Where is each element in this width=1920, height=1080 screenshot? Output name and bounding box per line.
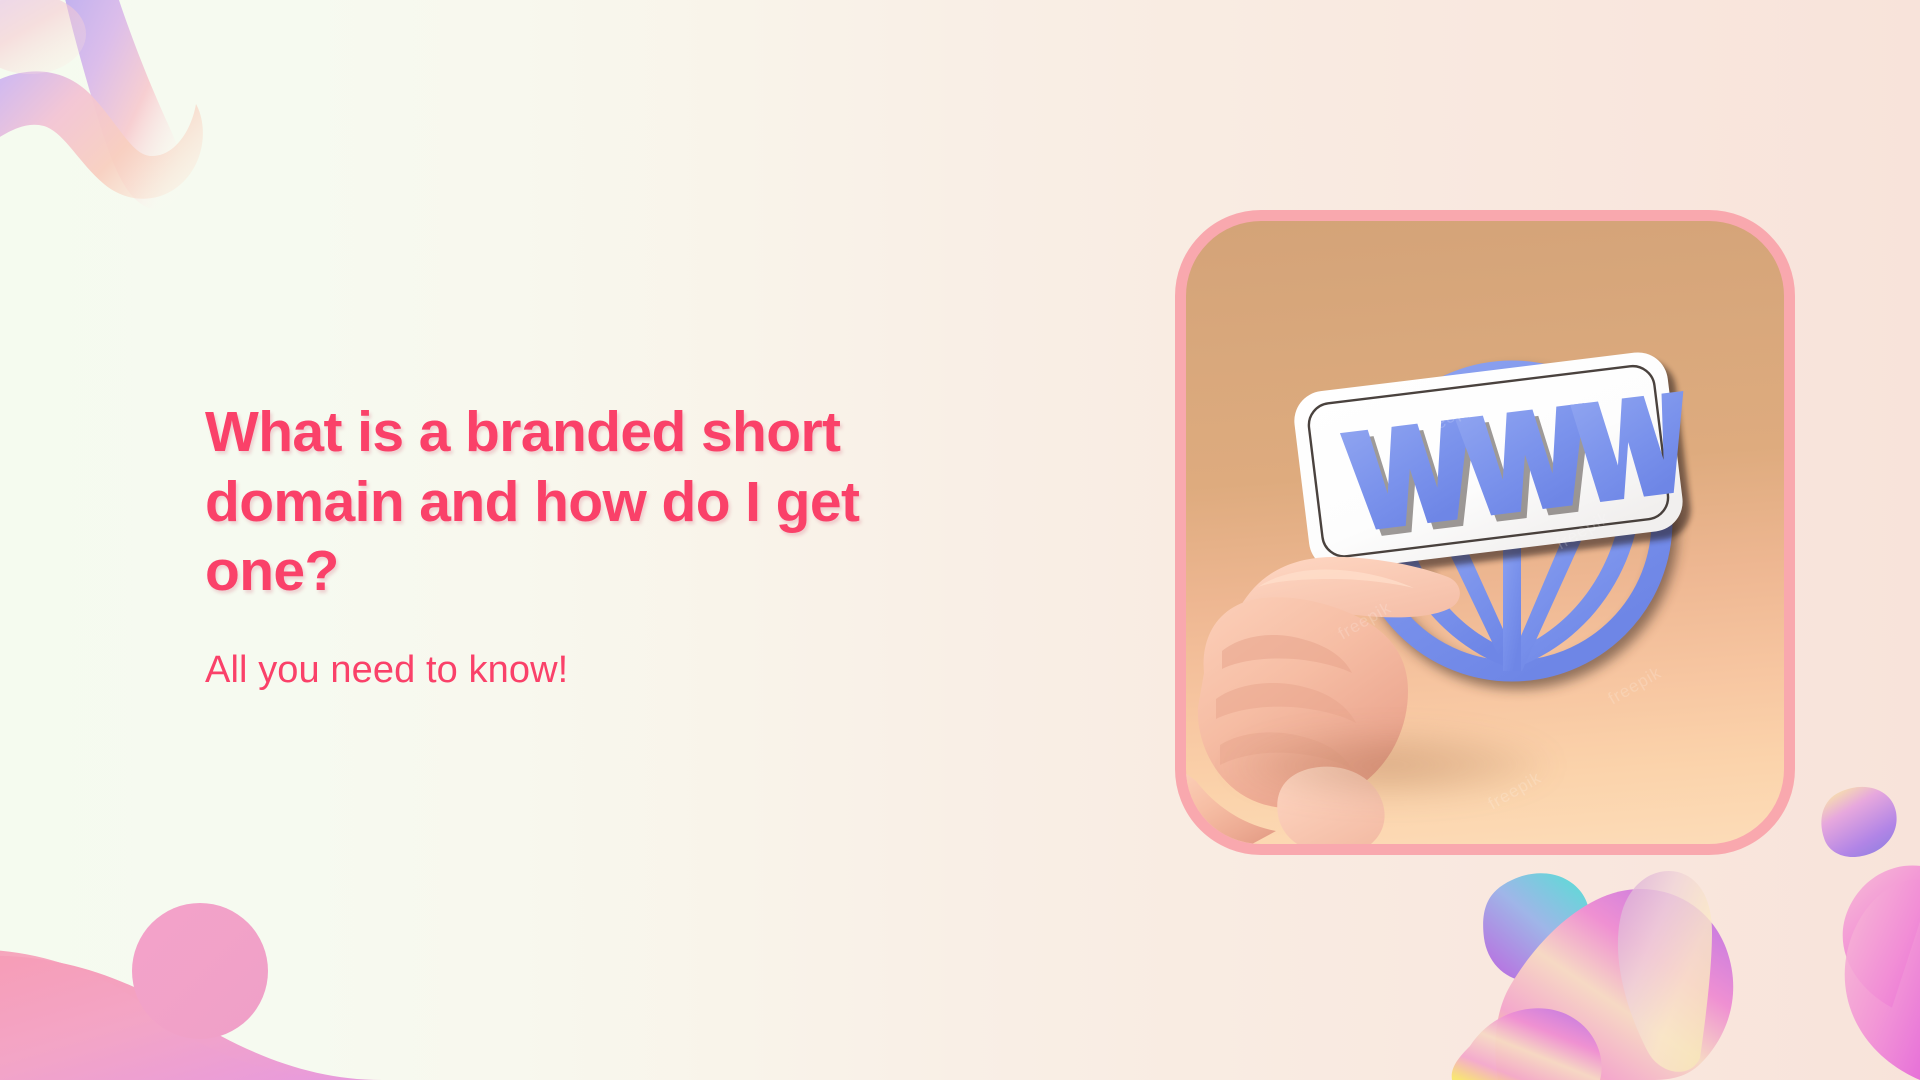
hero-text-column: What is a branded short domain and how d… [205,398,965,694]
illustration-card: freepik freepik freepik freepik freepik [1175,210,1795,855]
deco-petal-far-right [1823,848,1920,1080]
deco-circle-bottom-left [132,903,268,1039]
page-subtitle: All you need to know! [205,647,965,695]
deco-smudge-top-left [0,0,86,74]
www-sign [1291,347,1701,582]
deco-pebble-small-right [1821,787,1896,857]
deco-wave-top-left [0,71,203,198]
deco-pebble-teal-right [1483,873,1590,982]
deco-teardrop-right [1618,871,1712,1072]
page-title: What is a branded short domain and how d… [205,398,950,607]
deco-blob-bottom-left [0,949,382,1080]
illustration-inner: freepik freepik freepik freepik freepik [1186,221,1784,844]
deco-blob-bottom-right [1452,889,1734,1080]
deco-ribbon-top-left [60,0,188,217]
hero-banner: What is a branded short domain and how d… [0,0,1920,1080]
